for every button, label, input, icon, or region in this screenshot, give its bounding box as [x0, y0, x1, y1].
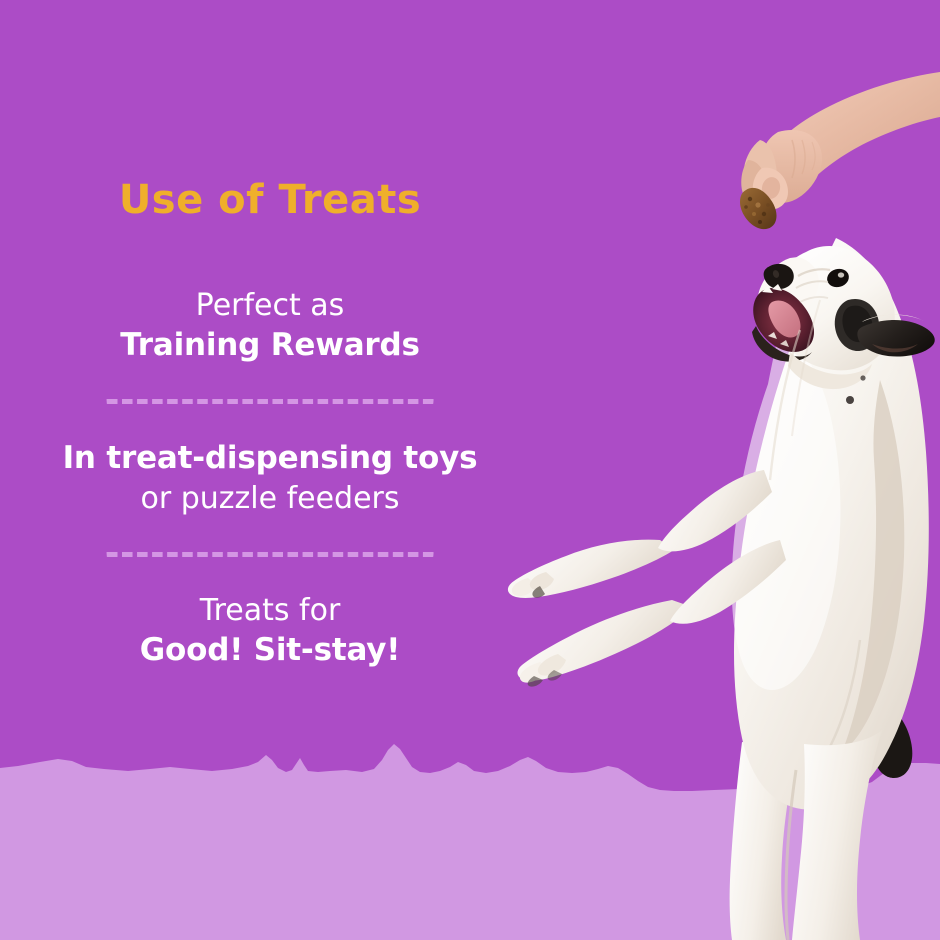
benefit-line-primary: Perfect as [0, 286, 540, 325]
benefit-block-sit-stay: Treats for Good! Sit-stay! [0, 591, 540, 670]
benefit-line-primary: or puzzle feeders [0, 479, 540, 518]
benefit-line-primary: Treats for [0, 591, 540, 630]
dashed-divider [105, 399, 435, 404]
dashed-divider [105, 552, 435, 557]
benefit-line-emphasis: Training Rewards [0, 325, 540, 365]
text-column: Use of Treats Perfect as Training Reward… [0, 178, 540, 670]
benefit-line-emphasis: In treat-dispensing toys [0, 438, 540, 478]
benefit-block-dispensing-toys: In treat-dispensing toys or puzzle feede… [0, 438, 540, 517]
benefit-line-emphasis: Good! Sit-stay! [0, 630, 540, 670]
benefit-block-training-rewards: Perfect as Training Rewards [0, 286, 540, 365]
page-title: Use of Treats [0, 178, 540, 222]
poster-canvas: Use of Treats Perfect as Training Reward… [0, 0, 940, 940]
